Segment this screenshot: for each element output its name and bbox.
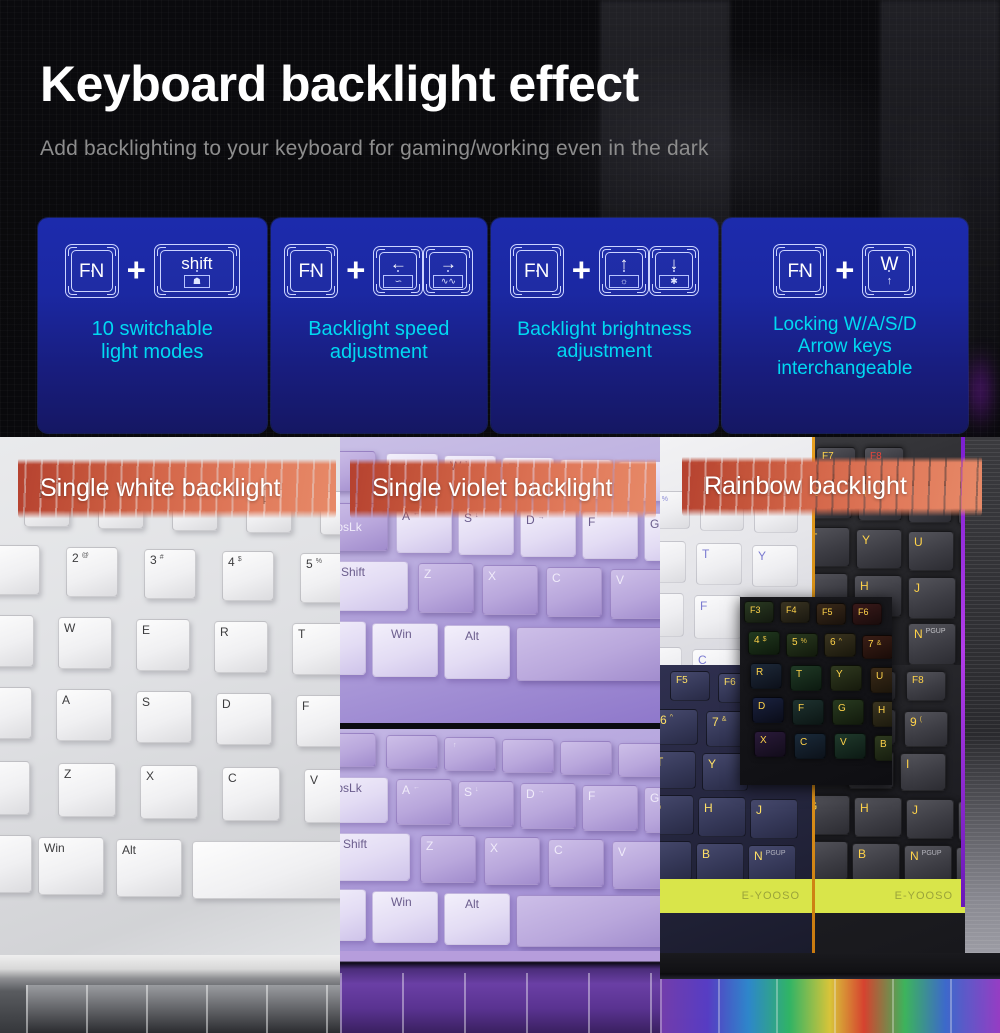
panel-rainbow: 5% 6^ 7& R T Y D F C V F7 F8 5% bbox=[660, 437, 1000, 1033]
dim-sun-icon: ✱ bbox=[659, 275, 689, 288]
key-z: Z bbox=[420, 835, 476, 883]
key-d: D bbox=[752, 697, 784, 723]
key-r: R bbox=[660, 541, 686, 583]
key-r bbox=[560, 741, 612, 775]
key-v: V bbox=[304, 769, 340, 823]
banner-single-white: Single white backlight bbox=[18, 457, 336, 519]
key-v: V bbox=[612, 841, 660, 889]
banner-rainbow: Rainbow backlight bbox=[682, 455, 982, 517]
key-n: NPGUP bbox=[908, 623, 956, 665]
key-h: H bbox=[698, 797, 746, 837]
key-alt: Alt bbox=[444, 625, 510, 679]
banner-single-violet: Single violet backlight bbox=[350, 457, 656, 519]
banner-wrap: Rainbow backlight bbox=[660, 437, 1000, 537]
left-arrow-key-icon: ← ∽ bbox=[373, 246, 423, 296]
key-c2 bbox=[660, 647, 682, 665]
key-caps bbox=[0, 687, 32, 739]
w-key-icon: W ↑ bbox=[862, 244, 916, 298]
key-capslk: CapsLk bbox=[340, 777, 388, 823]
key-w: W bbox=[58, 617, 112, 669]
fn-key-icon: FN bbox=[510, 244, 564, 298]
key-shift: Shift bbox=[340, 833, 410, 881]
key-3: 3# bbox=[144, 549, 196, 599]
shift-key-label: shift bbox=[181, 255, 212, 272]
key-y: Y bbox=[830, 665, 862, 691]
key-tab bbox=[340, 733, 376, 767]
key-j: J bbox=[906, 799, 954, 839]
left-arrow-label: ← bbox=[390, 255, 407, 272]
fn-key-label: FN bbox=[787, 262, 812, 281]
key-ctrl: Ctrl bbox=[340, 621, 366, 675]
key-t: T bbox=[292, 623, 340, 675]
key-s: S↓ bbox=[458, 781, 514, 827]
key-ctrl bbox=[0, 835, 32, 893]
feature-card-light-modes[interactable]: FN + shift ☗ 10 switchable light modes bbox=[38, 218, 267, 433]
key-a: A← bbox=[396, 779, 452, 825]
key-t bbox=[618, 743, 660, 777]
key-space bbox=[192, 841, 340, 899]
key-v: V bbox=[812, 841, 848, 881]
key-d: D bbox=[216, 693, 272, 745]
fn-key-label: FN bbox=[79, 262, 104, 281]
key-f5: F5 bbox=[670, 671, 710, 701]
key-f: F bbox=[694, 595, 742, 639]
caption-line-2: Arrow keys bbox=[773, 336, 917, 358]
violet-keyboard-photo-bottom: ↑ CapsLk A← S↓ D→ F G Shift Z X C V Ctrl bbox=[340, 729, 660, 951]
up-arrow-key-icon: ↑ ☼ bbox=[599, 246, 649, 296]
key-x: X bbox=[140, 765, 198, 819]
key-6: 6^ bbox=[824, 633, 856, 657]
caption-line-1: Backlight brightness bbox=[517, 318, 692, 340]
key-1 bbox=[0, 545, 40, 595]
key-7: 7& bbox=[862, 635, 892, 659]
fn-key-icon: FN bbox=[284, 244, 338, 298]
plus-operator: + bbox=[572, 253, 591, 286]
brand-bar-left: E-YOOSO bbox=[660, 879, 812, 913]
key-c: C bbox=[794, 733, 826, 759]
key-d: D→ bbox=[520, 783, 576, 829]
caption-line-3: interchangeable bbox=[773, 358, 917, 380]
light-icon: ☗ bbox=[184, 275, 210, 288]
key-s: S bbox=[136, 691, 192, 743]
key-2: 2@ bbox=[66, 547, 118, 597]
caption-line-1: Locking W/A/S/D bbox=[773, 314, 917, 336]
key-q bbox=[386, 735, 438, 769]
key-x: X bbox=[754, 731, 786, 757]
plus-operator: + bbox=[127, 253, 146, 286]
feature-card-backlight-speed[interactable]: FN + ← ∽ → ∿∿ Backlight speed adj bbox=[271, 218, 488, 433]
key-5: 5% bbox=[300, 553, 340, 603]
bright-sun-icon: ☼ bbox=[609, 275, 639, 288]
key-i: I bbox=[900, 753, 946, 791]
key-d: D bbox=[660, 593, 684, 637]
fn-key-label: FN bbox=[298, 262, 323, 281]
key-f: F bbox=[296, 695, 340, 747]
banner-wrap: Single white backlight bbox=[0, 437, 340, 537]
key-combo: FN + ← ∽ → ∿∿ bbox=[284, 244, 473, 298]
key-x: X bbox=[484, 837, 540, 885]
key-j: J bbox=[750, 799, 798, 839]
caption-line-2: adjustment bbox=[517, 340, 692, 362]
key-f6: F6 bbox=[852, 603, 882, 625]
key-ctrl: Ctrl bbox=[340, 889, 366, 941]
right-arrow-key-icon: → ∿∿ bbox=[423, 246, 473, 296]
key-t: T bbox=[660, 751, 696, 789]
feature-cards: FN + shift ☗ 10 switchable light modes bbox=[38, 218, 968, 433]
key-b: B bbox=[852, 843, 900, 883]
key-6: 6^ bbox=[660, 709, 698, 745]
key-w: ↑ bbox=[444, 737, 496, 771]
key-g: G bbox=[812, 795, 850, 835]
key-e bbox=[502, 739, 554, 773]
up-arrow-label: ↑ bbox=[620, 255, 629, 272]
key-g: G bbox=[660, 795, 694, 835]
key-t: T bbox=[790, 665, 822, 691]
key-g: G bbox=[644, 787, 660, 833]
key-h: H bbox=[854, 797, 902, 837]
down-arrow-key-icon: ↓ ✱ bbox=[649, 246, 699, 296]
key-b: B bbox=[874, 735, 892, 761]
key-f4: F4 bbox=[780, 601, 810, 623]
caption-line-1: Backlight speed bbox=[308, 318, 449, 341]
key-e: E bbox=[136, 619, 190, 671]
page-subtitle: Add backlighting to your keyboard for ga… bbox=[40, 137, 960, 161]
key-z: Z bbox=[418, 563, 474, 613]
right-arrow-label: → bbox=[440, 255, 457, 272]
fn-key-icon: FN bbox=[773, 244, 827, 298]
photo-panels: F1 F2 F3 F4 2@ 3# 4$ 5% Q W E R T bbox=[0, 437, 1000, 1033]
key-space bbox=[516, 627, 660, 681]
fn-key-label: FN bbox=[524, 262, 549, 281]
key-q: Q bbox=[0, 615, 34, 667]
key-alt: Alt bbox=[116, 839, 182, 897]
slow-wave-icon: ∽ bbox=[383, 275, 413, 288]
key-c: C bbox=[692, 649, 742, 665]
shift-key-icon: shift ☗ bbox=[154, 244, 240, 298]
key-5: 5% bbox=[786, 633, 818, 657]
card-caption: 10 switchable light modes bbox=[86, 318, 219, 364]
fast-wave-icon: ∿∿ bbox=[433, 275, 463, 288]
violet-desk-surface bbox=[340, 951, 660, 1033]
key-z: Z bbox=[58, 763, 116, 817]
key-r: R bbox=[214, 621, 268, 673]
key-alt: Alt bbox=[444, 893, 510, 945]
caption-line-1: 10 switchable bbox=[92, 318, 213, 341]
key-c: C bbox=[546, 567, 602, 617]
key-4: 4$ bbox=[748, 631, 780, 655]
key-f3: F3 bbox=[744, 601, 774, 623]
key-a: A bbox=[56, 689, 112, 741]
caption-line-2: adjustment bbox=[308, 341, 449, 364]
plus-operator: + bbox=[346, 253, 365, 286]
card-caption: Locking W/A/S/D Arrow keys interchangeab… bbox=[767, 314, 923, 381]
w-key-label: W bbox=[880, 255, 898, 274]
key-u: U bbox=[870, 667, 892, 693]
key-win: Win bbox=[372, 623, 438, 677]
key-u: U bbox=[908, 531, 954, 571]
feature-card-wasd-lock[interactable]: FN + W ↑ Locking W/A/S/D Arrow keys inte… bbox=[722, 218, 968, 433]
key-shift bbox=[0, 761, 30, 815]
fn-key-icon: FN bbox=[65, 244, 119, 298]
banner-wrap: Single violet backlight bbox=[340, 437, 660, 537]
key-x: X bbox=[482, 565, 538, 615]
banner-label: Rainbow backlight bbox=[682, 455, 982, 517]
caption-line-2: light modes bbox=[92, 341, 213, 364]
brand-bar-right: E-YOOSO bbox=[812, 879, 965, 913]
key-combo: FN + ↑ ☼ ↓ ✱ bbox=[510, 244, 699, 298]
white-desk-surface bbox=[0, 955, 340, 1033]
key-g: G bbox=[832, 699, 864, 725]
header: Keyboard backlight effect Add backlighti… bbox=[40, 58, 960, 161]
up-arrow-icon: ↑ bbox=[887, 276, 893, 287]
key-combo: FN + W ↑ bbox=[773, 244, 916, 298]
key-win: Win bbox=[372, 891, 438, 943]
key-space bbox=[516, 895, 660, 947]
key-b: B bbox=[696, 843, 744, 883]
key-4: 4$ bbox=[222, 551, 274, 601]
key-c: C bbox=[548, 839, 604, 887]
key-h: H bbox=[872, 701, 892, 727]
key-win: Win bbox=[38, 837, 104, 895]
banner-label: Single violet backlight bbox=[350, 457, 656, 519]
panel-single-violet: W↑ E R T CapsLk A← S↓ D→ F G Shift Z X C… bbox=[340, 437, 660, 1033]
key-f5: F5 bbox=[816, 603, 846, 625]
key-v: V bbox=[660, 841, 692, 881]
down-arrow-label: ↓ bbox=[670, 255, 679, 272]
key-combo: FN + shift ☗ bbox=[65, 244, 240, 298]
page-root: Keyboard backlight effect Add backlighti… bbox=[0, 0, 1000, 1033]
key-9: 9( bbox=[904, 711, 948, 747]
key-v: V bbox=[610, 569, 660, 619]
rainbow-desk-surface bbox=[660, 953, 1000, 1033]
feature-card-backlight-brightness[interactable]: FN + ↑ ☼ ↓ ✱ Backlight brightness bbox=[491, 218, 718, 433]
key-r: R bbox=[750, 663, 782, 689]
key-f: F bbox=[582, 785, 638, 831]
card-caption: Backlight speed adjustment bbox=[302, 318, 455, 364]
panel-single-white: F1 F2 F3 F4 2@ 3# 4$ 5% Q W E R T bbox=[0, 437, 340, 1033]
key-shift: Shift bbox=[340, 561, 408, 611]
banner-label: Single white backlight bbox=[18, 457, 336, 519]
key-f8: F8 bbox=[906, 671, 946, 701]
plus-operator: + bbox=[835, 253, 854, 286]
rainbow-inset-keyboard: F3 F4 F5 F6 4$ 5% 6^ 7& R T Y U D F G H bbox=[740, 597, 892, 785]
key-t: T bbox=[696, 543, 742, 585]
page-title: Keyboard backlight effect bbox=[40, 58, 960, 111]
key-y: Y bbox=[752, 545, 798, 587]
key-j: J bbox=[908, 577, 956, 619]
key-v: V bbox=[834, 733, 866, 759]
card-caption: Backlight brightness adjustment bbox=[511, 318, 698, 363]
key-c: C bbox=[222, 767, 280, 821]
key-f: F bbox=[792, 699, 824, 725]
